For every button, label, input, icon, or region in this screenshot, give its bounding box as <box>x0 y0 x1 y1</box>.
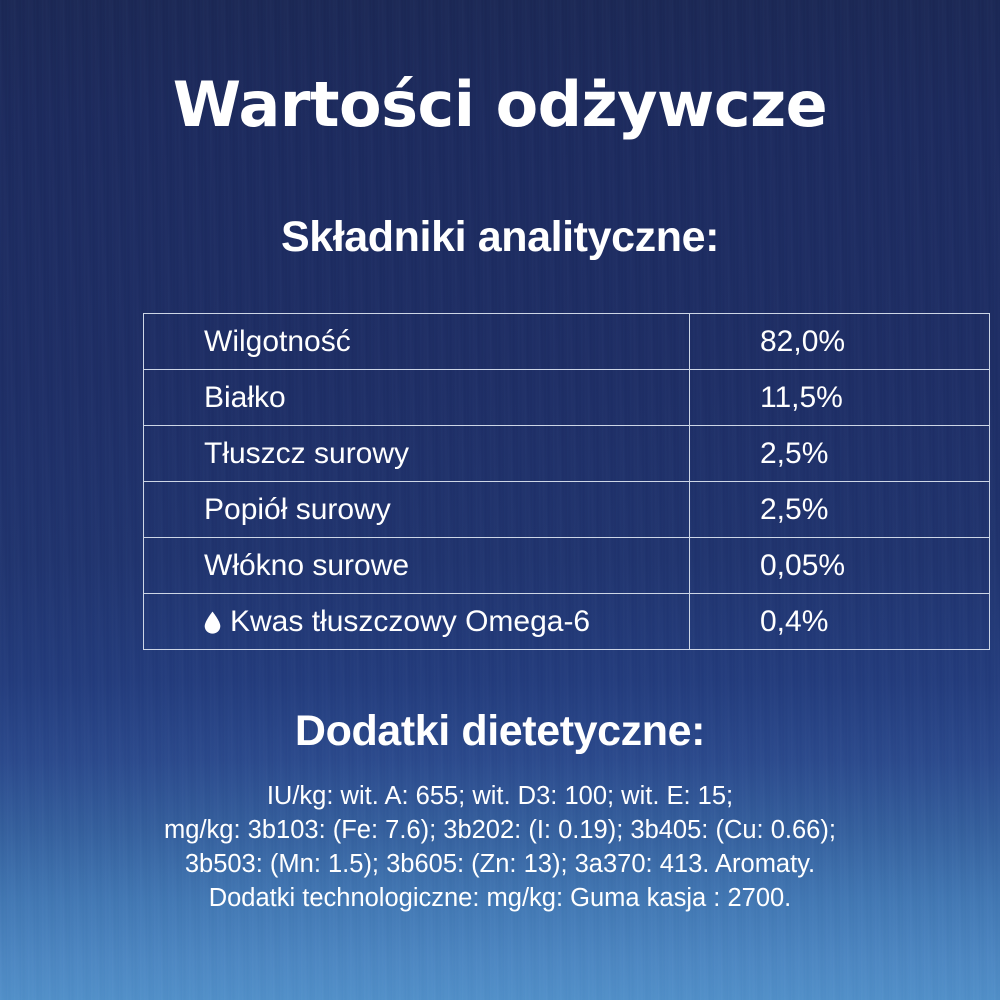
table-cell-value: 82,0% <box>690 314 990 370</box>
additives-line: Dodatki technologiczne: mg/kg: Guma kasj… <box>0 881 1000 915</box>
additives-line: mg/kg: 3b103: (Fe: 7.6); 3b202: (I: 0.19… <box>0 813 1000 847</box>
table-row: Włókno surowe 0,05% <box>144 538 990 594</box>
nutrient-label: Włókno surowe <box>204 549 409 583</box>
analytical-heading: Składniki analityczne: <box>0 213 1000 262</box>
nutrition-panel: Wartości odżywcze Składniki analityczne:… <box>0 0 1000 1000</box>
analytical-table: Wilgotność 82,0% Białko 11,5% <box>143 313 990 650</box>
table-cell-value: 11,5% <box>690 370 990 426</box>
table-cell-value: 2,5% <box>690 482 990 538</box>
nutrient-label: Popiół surowy <box>204 493 391 527</box>
table-cell-label: Tłuszcz surowy <box>144 426 690 482</box>
table-cell-value: 0,4% <box>690 594 990 650</box>
table-row: Kwas tłuszczowy Omega-6 0,4% <box>144 594 990 650</box>
table-cell-label: Wilgotność <box>144 314 690 370</box>
nutrient-label: Wilgotność <box>204 325 351 359</box>
additives-line: IU/kg: wit. A: 655; wit. D3: 100; wit. E… <box>0 779 1000 813</box>
table-cell-label: Kwas tłuszczowy Omega-6 <box>144 594 690 650</box>
table-cell-value: 0,05% <box>690 538 990 594</box>
additives-text: IU/kg: wit. A: 655; wit. D3: 100; wit. E… <box>0 779 1000 915</box>
nutrient-label: Tłuszcz surowy <box>204 437 409 471</box>
panel-content: Wartości odżywcze Składniki analityczne:… <box>0 0 1000 1000</box>
table-cell-label: Włókno surowe <box>144 538 690 594</box>
table-row: Wilgotność 82,0% <box>144 314 990 370</box>
table-row: Popiół surowy 2,5% <box>144 482 990 538</box>
table-cell-value: 2,5% <box>690 426 990 482</box>
droplet-icon <box>204 611 221 634</box>
page-title: Wartości odżywcze <box>0 72 1000 137</box>
table-row: Tłuszcz surowy 2,5% <box>144 426 990 482</box>
table-cell-label: Popiół surowy <box>144 482 690 538</box>
nutrient-label: Kwas tłuszczowy Omega-6 <box>230 605 590 639</box>
additives-heading: Dodatki dietetyczne: <box>0 707 1000 756</box>
nutrient-label: Białko <box>204 381 286 415</box>
table-row: Białko 11,5% <box>144 370 990 426</box>
table-cell-label: Białko <box>144 370 690 426</box>
additives-line: 3b503: (Mn: 1.5); 3b605: (Zn: 13); 3a370… <box>0 847 1000 881</box>
